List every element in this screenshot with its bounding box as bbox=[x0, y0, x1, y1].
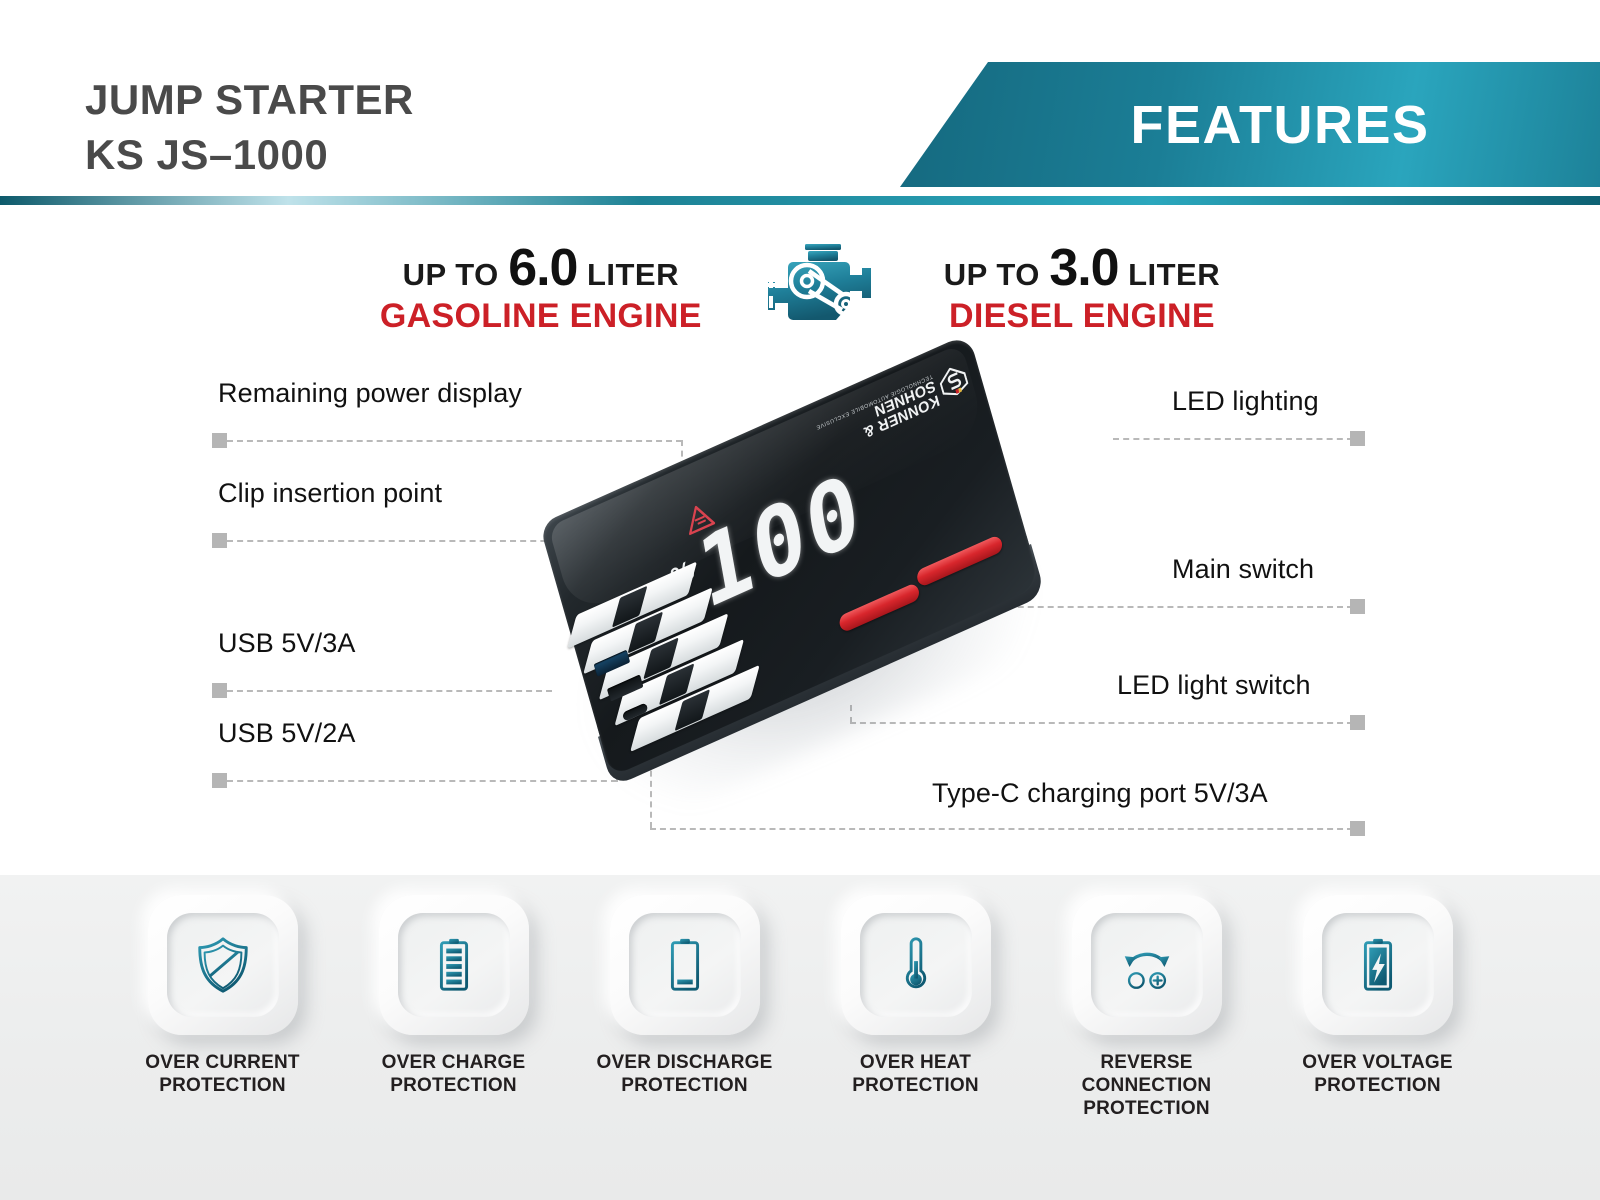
protection-tile-over-current bbox=[148, 895, 298, 1035]
gasoline-upto: UP TO bbox=[403, 257, 499, 292]
callout-label-clip-insertion-point: Clip insertion point bbox=[218, 478, 442, 509]
features-banner: FEATURES bbox=[900, 62, 1600, 187]
leader-marker-led-lighting bbox=[1350, 431, 1365, 446]
protection-caption-line2: PROTECTION bbox=[1083, 1098, 1210, 1119]
callout-label-main-switch: Main switch bbox=[1172, 554, 1314, 585]
protection-caption-line2: PROTECTION bbox=[852, 1075, 979, 1096]
leader-marker-remaining-power-display bbox=[212, 433, 227, 448]
protection-item-over-charge: OVER CHARGE PROTECTION bbox=[361, 895, 546, 1097]
protection-caption-line2: PROTECTION bbox=[1314, 1075, 1441, 1096]
leader-marker-led-light-switch bbox=[1350, 715, 1365, 730]
protection-item-over-discharge: OVER DISCHARGE PROTECTION bbox=[592, 895, 777, 1097]
leader-marker-usb-5v-2a bbox=[212, 773, 227, 788]
protection-items-row: OVER CURRENT PROTECTION bbox=[0, 895, 1600, 1121]
callout-label-usb-5v-3a: USB 5V/3A bbox=[218, 628, 355, 659]
diesel-unit: LITER bbox=[1128, 257, 1220, 292]
leader-marker-main-switch bbox=[1350, 599, 1365, 614]
protection-tile-over-voltage bbox=[1303, 895, 1453, 1035]
gasoline-engine-label: GASOLINE ENGINE bbox=[380, 299, 702, 333]
callout-label-usb-5v-2a: USB 5V/2A bbox=[218, 718, 355, 749]
engine-spec-row: UP TO 6.0 LITER GASOLINE ENGINE bbox=[0, 232, 1600, 342]
protection-tile-over-heat bbox=[841, 895, 991, 1035]
callout-label-remaining-power-display: Remaining power display bbox=[218, 378, 522, 409]
protection-item-over-current: OVER CURRENT PROTECTION bbox=[130, 895, 315, 1097]
product-title-line1: JUMP STARTER bbox=[85, 72, 414, 127]
protection-caption-line1: OVER CURRENT bbox=[145, 1052, 299, 1073]
leader-marker-type-c-charging-port bbox=[1350, 821, 1365, 836]
page-title: JUMP STARTER KS JS–1000 bbox=[85, 72, 414, 183]
leader-line-usb-5v-3a bbox=[227, 690, 552, 692]
engine-spec-diesel: UP TO 3.0 LITER DIESEL ENGINE bbox=[944, 242, 1220, 333]
protection-item-over-voltage: OVER VOLTAGE PROTECTION bbox=[1285, 895, 1470, 1097]
product-diagram: Remaining power display Clip insertion p… bbox=[0, 350, 1600, 870]
leader-marker-usb-5v-3a bbox=[212, 683, 227, 698]
protection-tile-over-charge bbox=[379, 895, 529, 1035]
protection-tile-reverse-connection bbox=[1072, 895, 1222, 1035]
features-banner-label: FEATURES bbox=[1070, 94, 1429, 156]
protection-caption-line1: OVER HEAT bbox=[860, 1052, 971, 1073]
leader-marker-clip-insertion-point bbox=[212, 533, 227, 548]
reverse-polarity-icon bbox=[1116, 934, 1178, 996]
gasoline-value: 6.0 bbox=[508, 239, 577, 297]
protection-tile-over-discharge bbox=[610, 895, 760, 1035]
protection-caption-line2: PROTECTION bbox=[390, 1075, 517, 1096]
callout-label-led-lighting: LED lighting bbox=[1172, 386, 1319, 417]
thermometer-icon bbox=[885, 934, 947, 996]
protection-caption-line2: PROTECTION bbox=[159, 1075, 286, 1096]
protection-caption-line1: OVER VOLTAGE bbox=[1302, 1052, 1453, 1073]
main-switch[interactable] bbox=[915, 534, 1004, 588]
product-title-line2: KS JS–1000 bbox=[85, 127, 414, 182]
header-divider bbox=[0, 196, 1600, 205]
page-header: JUMP STARTER KS JS–1000 FEATURES bbox=[0, 0, 1600, 206]
protection-caption-line1: OVER CHARGE bbox=[382, 1052, 526, 1073]
battery-bolt-icon bbox=[1347, 934, 1409, 996]
protection-features-band: OVER CURRENT PROTECTION bbox=[0, 875, 1600, 1200]
shield-slash-icon bbox=[192, 934, 254, 996]
engine-block-icon bbox=[760, 240, 886, 334]
protection-caption-line2: PROTECTION bbox=[621, 1075, 748, 1096]
diesel-upto: UP TO bbox=[944, 257, 1040, 292]
jump-starter-device: % 100 KONNER & SOHNEN TECHNOLOGIE AUTOMO… bbox=[505, 355, 1145, 855]
protection-item-over-heat: OVER HEAT PROTECTION bbox=[823, 895, 1008, 1097]
diesel-engine-label: DIESEL ENGINE bbox=[944, 299, 1220, 333]
protection-caption-line1: OVER DISCHARGE bbox=[597, 1052, 773, 1073]
gasoline-unit: LITER bbox=[587, 257, 679, 292]
engine-spec-gasoline: UP TO 6.0 LITER GASOLINE ENGINE bbox=[380, 242, 702, 333]
diesel-value: 3.0 bbox=[1049, 239, 1118, 297]
battery-full-icon bbox=[423, 934, 485, 996]
leader-line-led-lighting bbox=[1113, 438, 1353, 440]
callout-label-led-light-switch: LED light switch bbox=[1117, 670, 1311, 701]
protection-caption-line1: REVERSE CONNECTION bbox=[1082, 1052, 1212, 1096]
battery-low-icon bbox=[654, 934, 716, 996]
protection-item-reverse-connection: REVERSE CONNECTION PROTECTION bbox=[1054, 895, 1239, 1121]
